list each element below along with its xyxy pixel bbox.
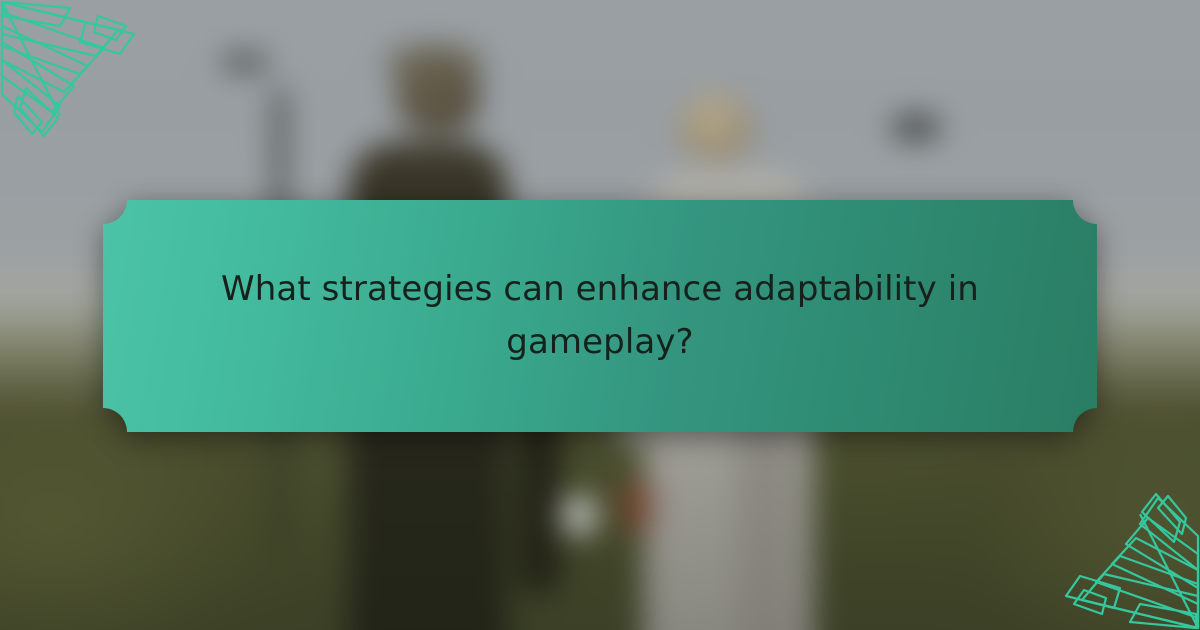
question-text: What strategies can enhance adaptability… bbox=[220, 263, 980, 368]
question-card: What strategies can enhance adaptability… bbox=[103, 200, 1097, 432]
distant-object-icon bbox=[892, 116, 941, 139]
held-object-red bbox=[622, 481, 654, 532]
held-object-white bbox=[559, 496, 597, 536]
lamp-head-icon bbox=[223, 55, 268, 69]
question-card-content: What strategies can enhance adaptability… bbox=[103, 200, 1097, 432]
person-dark-hat bbox=[386, 44, 484, 80]
poster-canvas: What strategies can enhance adaptability… bbox=[0, 0, 1200, 630]
person-light-head bbox=[679, 93, 753, 161]
